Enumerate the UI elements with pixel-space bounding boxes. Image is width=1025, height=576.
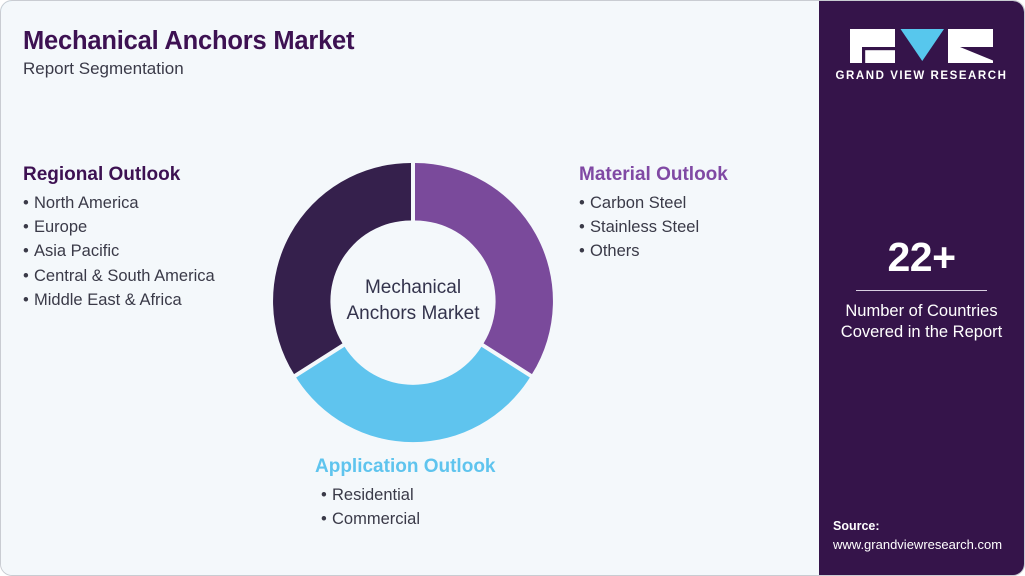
regional-outlook-list: North America Europe Asia Pacific Centra… xyxy=(23,191,215,312)
list-item: Central & South America xyxy=(23,264,215,288)
list-item: Carbon Steel xyxy=(579,191,728,215)
stat-caption: Number of Countries Covered in the Repor… xyxy=(819,301,1024,344)
donut-chart-svg xyxy=(271,159,555,443)
list-item: Stainless Steel xyxy=(579,215,728,239)
donut-segment-application xyxy=(296,347,530,442)
material-outlook-heading: Material Outlook xyxy=(579,163,728,187)
stat-divider xyxy=(856,290,987,291)
list-item: Others xyxy=(579,239,728,263)
list-item: Commercial xyxy=(315,507,496,531)
stat-caption-line-2: Covered in the Report xyxy=(819,322,1024,343)
list-item: Residential xyxy=(315,483,496,507)
list-item: Middle East & Africa xyxy=(23,288,215,312)
material-outlook-list: Carbon Steel Stainless Steel Others xyxy=(579,191,728,264)
stat-caption-line-1: Number of Countries xyxy=(819,301,1024,322)
logo-wordmark: GRAND VIEW RESEARCH xyxy=(836,70,1008,82)
source-block: Source: www.grandviewresearch.com xyxy=(833,517,1024,555)
application-outlook-list: Residential Commercial xyxy=(315,483,496,532)
gvr-logo-icon xyxy=(850,29,993,63)
infographic-canvas: Mechanical Anchors Market Report Segment… xyxy=(0,0,1025,576)
countries-stat-block: 22+ Number of Countries Covered in the R… xyxy=(819,237,1024,344)
page-title: Mechanical Anchors Market xyxy=(23,27,354,56)
application-outlook-heading: Application Outlook xyxy=(315,455,496,479)
donut-chart: Mechanical Anchors Market xyxy=(271,159,555,443)
regional-outlook-heading: Regional Outlook xyxy=(23,163,215,187)
list-item: North America xyxy=(23,191,215,215)
page-subtitle: Report Segmentation xyxy=(23,59,184,79)
material-outlook-block: Material Outlook Carbon Steel Stainless … xyxy=(579,163,728,264)
regional-outlook-block: Regional Outlook North America Europe As… xyxy=(23,163,215,312)
sidebar: GRAND VIEW RESEARCH 22+ Number of Countr… xyxy=(819,1,1024,576)
donut-segment-material xyxy=(415,163,553,374)
application-outlook-block: Application Outlook Residential Commerci… xyxy=(315,455,496,531)
stat-number: 22+ xyxy=(819,237,1024,278)
content-panel: Mechanical Anchors Market Report Segment… xyxy=(1,1,821,576)
source-url[interactable]: www.grandviewresearch.com xyxy=(833,536,1024,555)
brand-logo: GRAND VIEW RESEARCH xyxy=(819,29,1024,82)
donut-segment-regional xyxy=(273,163,411,374)
list-item: Europe xyxy=(23,215,215,239)
source-label: Source: xyxy=(833,517,1024,536)
list-item: Asia Pacific xyxy=(23,239,215,263)
